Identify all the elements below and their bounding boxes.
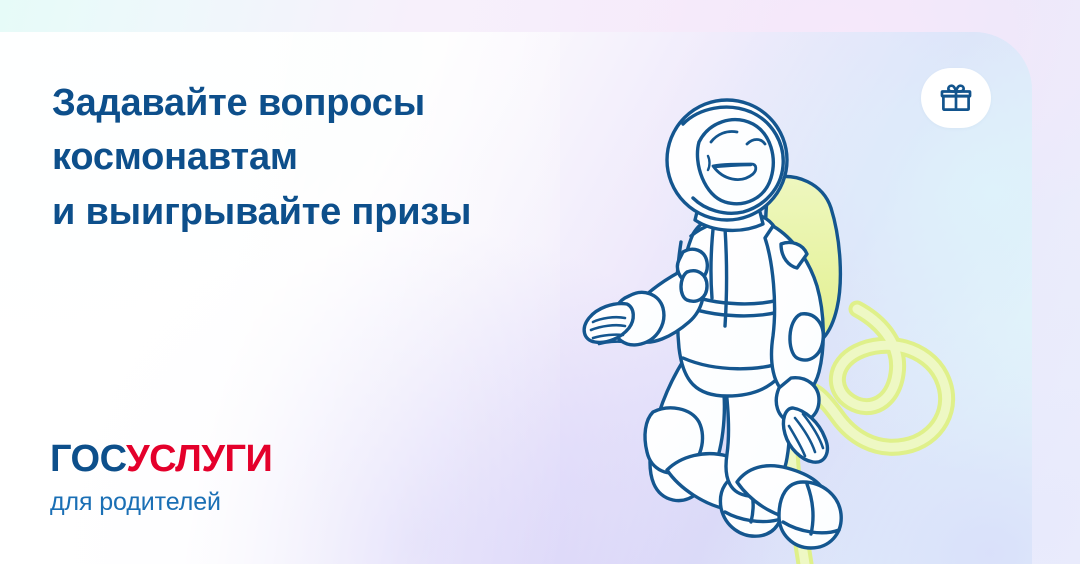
gosuslugi-logo[interactable]: ГОСУСЛУГИ для родителей [50,440,272,517]
cosmonaut-illustration [575,96,1005,564]
logo-subtitle: для родителей [50,488,272,517]
logo-text-red: УСЛУГИ [126,438,272,480]
logo-text-blue: ГОС [50,438,126,480]
banner-headline: Задавайте вопросы космонавтам и выигрыва… [52,76,612,239]
promo-banner: Задавайте вопросы космонавтам и выигрыва… [0,0,1080,564]
logo-wordmark: ГОСУСЛУГИ [50,440,272,478]
